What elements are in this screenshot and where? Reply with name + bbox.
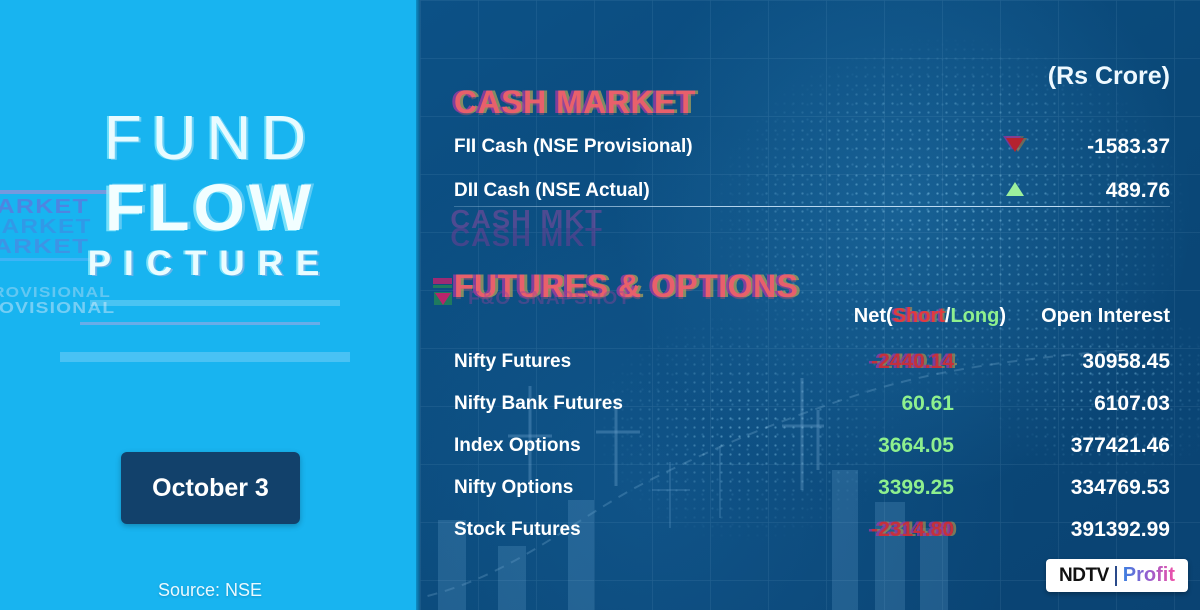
profit-wordmark: Profit [1123, 564, 1175, 587]
logo-line-flow: FLOW [0, 174, 420, 240]
fo-row-open-interest: 6107.03 [1000, 392, 1170, 416]
fo-row-label: Nifty Futures [454, 351, 770, 373]
fo-row-label: Index Options [454, 435, 770, 457]
glitch-bar-5 [90, 300, 340, 306]
column-header-net-prefix: Net( [854, 305, 893, 327]
arrow-down-icon [1000, 138, 1030, 157]
fo-row-open-interest: 30958.45 [1000, 350, 1170, 374]
cash-row-fii: FII Cash (NSE Provisional) -1583.37 [454, 132, 1170, 162]
fo-row-open-interest: 391392.99 [1000, 518, 1170, 542]
cash-row-dii-value: 489.76 [1030, 179, 1170, 203]
source-attribution: Source: NSE [0, 580, 420, 601]
logo-line-fund: FUND [0, 108, 420, 170]
glitch-bar-4 [60, 352, 350, 362]
fo-row-label: Nifty Bank Futures [454, 393, 770, 415]
fund-flow-logo: FUND FLOW PICTURE [0, 108, 420, 281]
cash-row-fii-value: -1583.37 [1030, 135, 1170, 159]
arrow-up-icon [1000, 182, 1030, 201]
data-panel: (Rs Crore) CASH MARKET FII Cash (NSE Pro… [420, 0, 1200, 610]
fo-row-net-value: -2440.14 [770, 350, 1000, 374]
left-branding-panel: MARKET MARKET MARKET PROVISIONAL PROVISI… [0, 0, 420, 610]
fo-row-net-value: 3399.25 [770, 476, 1000, 500]
fo-row-stock-futures: Stock Futures -2314.80 391392.99 [454, 515, 1170, 545]
fo-row-net-value: -2314.80 [770, 518, 1000, 542]
column-header-net: Net(Short/Long) [854, 305, 1006, 328]
fo-row-label: Stock Futures [454, 519, 770, 541]
fo-row-net-value: 60.61 [770, 392, 1000, 416]
futures-options-heading: FUTURES & OPTIONS [454, 268, 799, 305]
glitch-triangle-icon [432, 274, 454, 308]
glitch-ghost-text-4: PROVISIONAL [0, 284, 111, 301]
fo-row-open-interest: 377421.46 [1000, 434, 1170, 458]
fo-row-nifty-futures: Nifty Futures -2440.14 30958.45 [454, 347, 1170, 377]
fund-flow-picture-graphic: MARKET MARKET MARKET PROVISIONAL PROVISI… [0, 0, 1200, 610]
section-divider [454, 206, 1170, 207]
glitch-bar-3 [80, 322, 320, 325]
units-label: (Rs Crore) [1048, 62, 1170, 91]
futures-options-column-headers: Net(Short/Long) Open Interest [454, 305, 1170, 333]
ndtv-profit-logo: NDTV Profit [1046, 559, 1188, 592]
logo-line-picture: PICTURE [0, 246, 420, 281]
column-header-net-long: Long [950, 305, 999, 327]
column-header-open-interest: Open Interest [1041, 305, 1170, 328]
cash-row-fii-label: FII Cash (NSE Provisional) [454, 136, 1000, 158]
cash-market-heading: CASH MARKET [454, 84, 696, 121]
fo-row-net-value: 3664.05 [770, 434, 1000, 458]
cash-row-dii-label: DII Cash (NSE Actual) [454, 180, 1000, 202]
fo-row-nifty-options: Nifty Options 3399.25 334769.53 [454, 473, 1170, 503]
ndtv-wordmark: NDTV [1059, 565, 1109, 587]
fo-row-nifty-bank-futures: Nifty Bank Futures 60.61 6107.03 [454, 389, 1170, 419]
date-badge: October 3 [121, 452, 300, 524]
glitch-ghost-text-5: PROVISIONAL [0, 300, 115, 318]
column-header-net-close: ) [999, 305, 1006, 327]
logo-divider [1115, 566, 1117, 586]
column-header-net-short: Short [893, 305, 945, 327]
fo-row-open-interest: 334769.53 [1000, 476, 1170, 500]
cash-row-dii: DII Cash (NSE Actual) 489.76 [454, 176, 1170, 206]
fo-row-label: Nifty Options [454, 477, 770, 499]
fo-row-index-options: Index Options 3664.05 377421.46 [454, 431, 1170, 461]
date-badge-label: October 3 [152, 474, 269, 503]
